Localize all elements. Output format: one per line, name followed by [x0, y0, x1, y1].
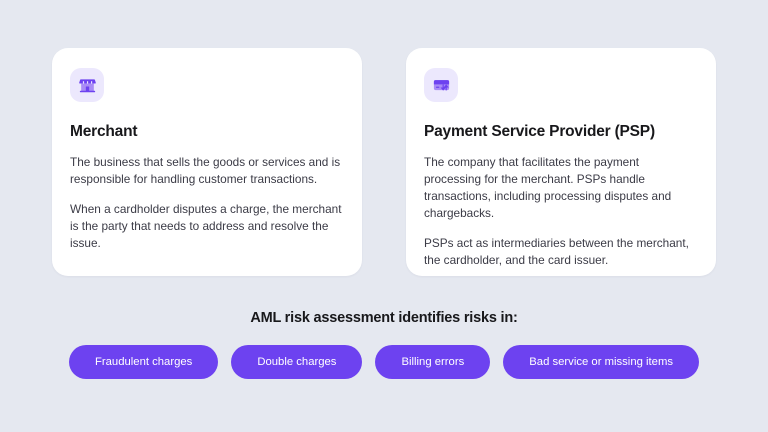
risk-pill-label: Fraudulent charges — [95, 356, 192, 368]
icon-tile-psp — [424, 68, 458, 102]
risk-pill-label: Billing errors — [401, 356, 464, 368]
slide-root: Merchant The business that sells the goo… — [0, 0, 768, 432]
risk-section-heading: AML risk assessment identifies risks in: — [0, 310, 768, 326]
card-paragraph: The business that sells the goods or ser… — [70, 154, 344, 188]
info-card-merchant: Merchant The business that sells the goo… — [52, 48, 362, 276]
card-title: Payment Service Provider (PSP) — [424, 123, 698, 142]
risk-section: AML risk assessment identifies risks in:… — [0, 310, 768, 379]
card-paragraph: The company that facilitates the payment… — [424, 154, 698, 222]
risk-pill-label: Bad service or missing items — [529, 356, 673, 368]
risk-pill-bad-service-or-missing-items[interactable]: Bad service or missing items — [503, 345, 699, 379]
risk-pill-label: Double charges — [257, 356, 336, 368]
card-paragraph: When a cardholder disputes a charge, the… — [70, 201, 344, 252]
risk-pill-row: Fraudulent charges Double charges Billin… — [0, 345, 768, 379]
credit-card-transfer-icon — [432, 76, 451, 95]
risk-pill-double-charges[interactable]: Double charges — [231, 345, 362, 379]
icon-tile-merchant — [70, 68, 104, 102]
info-card-row: Merchant The business that sells the goo… — [52, 48, 716, 276]
card-paragraph: PSPs act as intermediaries between the m… — [424, 235, 698, 269]
risk-pill-fraudulent-charges[interactable]: Fraudulent charges — [69, 345, 218, 379]
storefront-icon — [78, 76, 97, 95]
risk-pill-billing-errors[interactable]: Billing errors — [375, 345, 490, 379]
card-title: Merchant — [70, 123, 344, 142]
info-card-psp: Payment Service Provider (PSP) The compa… — [406, 48, 716, 276]
